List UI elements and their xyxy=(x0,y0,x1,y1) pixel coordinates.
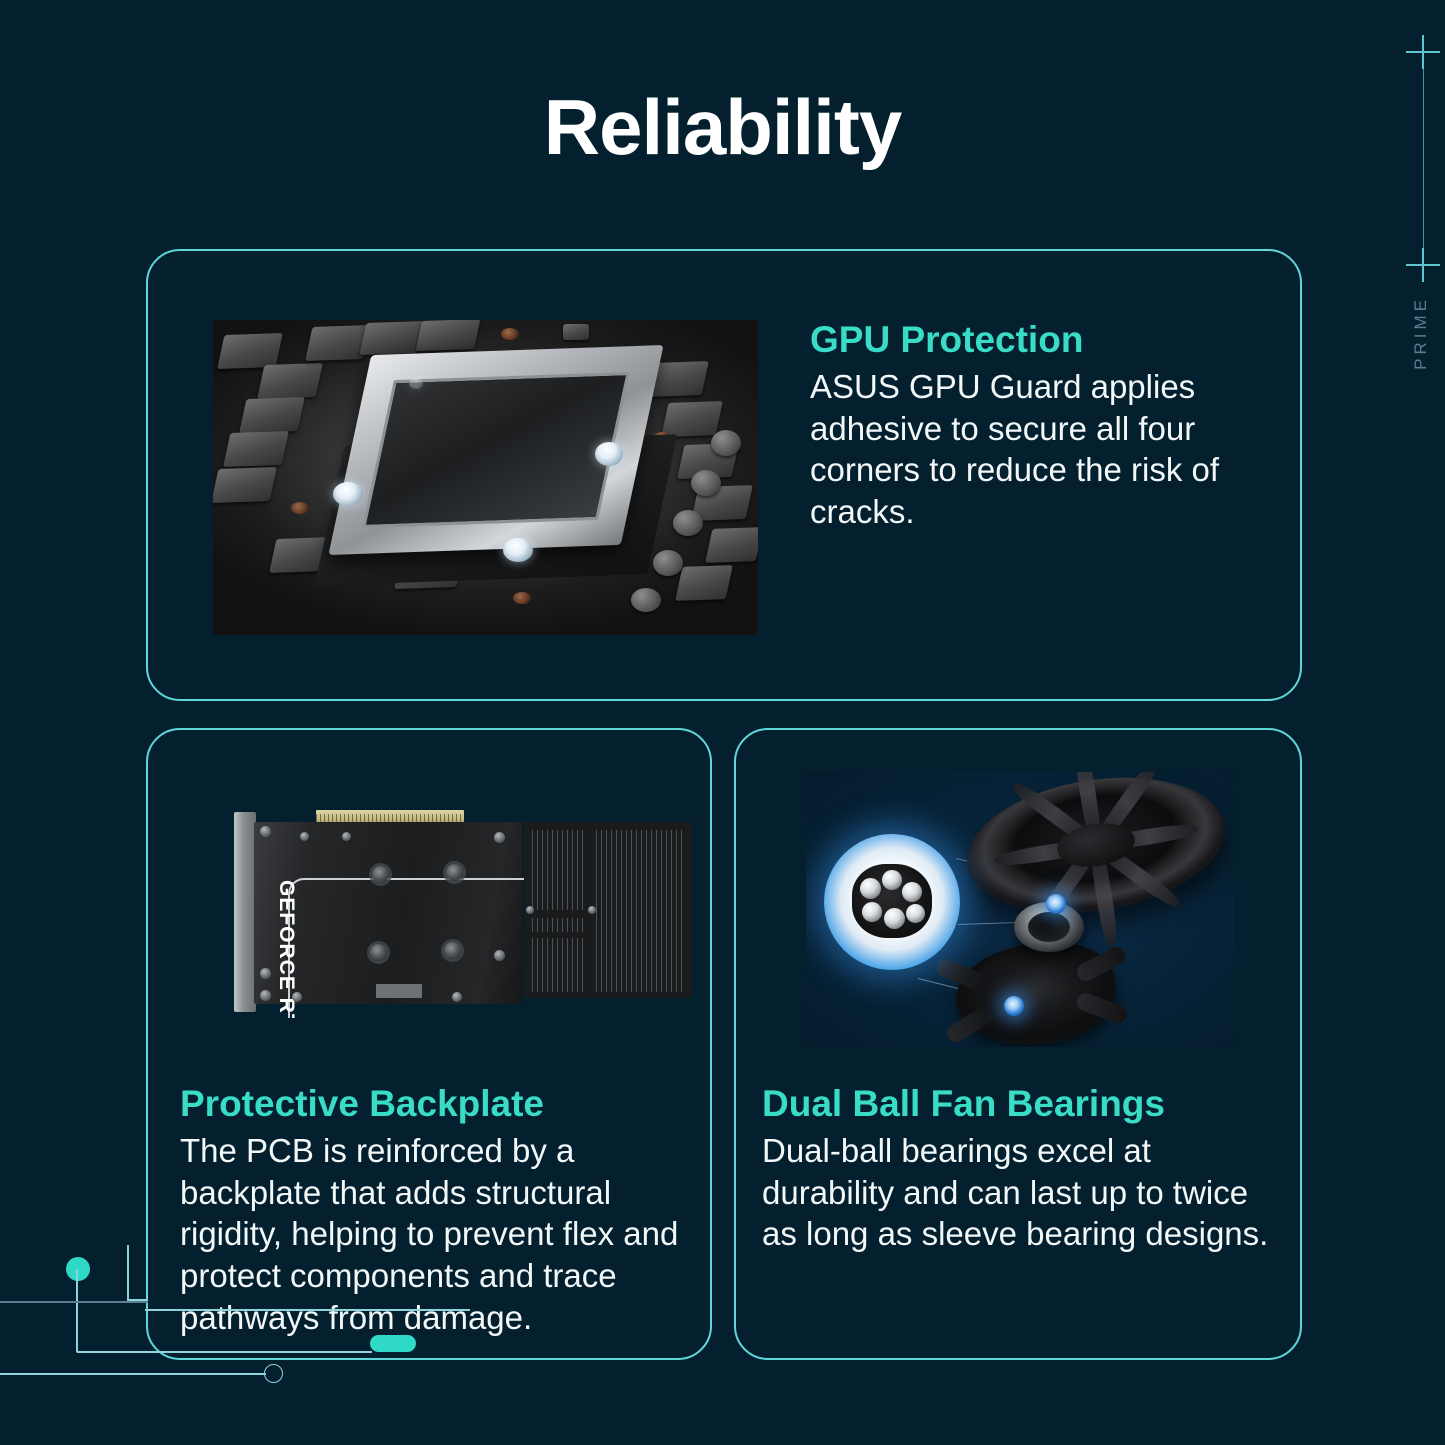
backplate-standoff xyxy=(444,942,461,959)
backplate-vent xyxy=(524,822,692,998)
circuit-node-outline xyxy=(264,1364,283,1383)
circuit-node-filled xyxy=(66,1257,90,1281)
backplate-screw xyxy=(300,832,309,841)
bearing-shaft-top xyxy=(1046,894,1066,914)
io-bracket xyxy=(234,812,256,1012)
page-title: Reliability xyxy=(0,88,1445,166)
bearing-race xyxy=(852,864,932,938)
fan-rotor xyxy=(957,772,1234,930)
backplate-screw xyxy=(260,990,271,1001)
circuit-trace-decoration xyxy=(0,1245,470,1445)
backplate-body: GEFORCE RTX xyxy=(254,822,522,1004)
infographic-page: Reliability xyxy=(0,0,1445,1445)
prime-label: PRIME xyxy=(1411,296,1431,370)
gpu-protection-body: ASUS GPU Guard applies adhesive to secur… xyxy=(810,366,1230,534)
gpu-protection-text: GPU Protection ASUS GPU Guard applies ad… xyxy=(810,318,1230,533)
backplate-screw xyxy=(260,826,271,837)
prime-vertical-line xyxy=(1423,38,1424,268)
backplate-screw xyxy=(342,832,351,841)
adhesive-blob xyxy=(595,442,623,466)
backplate-model-tag xyxy=(376,984,422,998)
bearing-bracket xyxy=(951,936,1121,1047)
backplate-screw xyxy=(494,950,505,961)
backplate-standoff xyxy=(370,944,387,961)
backplate-screw xyxy=(452,992,462,1002)
circuit-node-pill xyxy=(370,1335,416,1352)
adhesive-blob xyxy=(503,538,533,562)
bearing-hub-bore xyxy=(1028,912,1070,942)
plus-marker-icon xyxy=(1406,35,1440,69)
gpu-die-photo xyxy=(213,320,758,635)
prime-watermark: PRIME xyxy=(1385,0,1445,420)
bearings-text: Dual Ball Fan Bearings Dual-ball bearing… xyxy=(762,1082,1284,1255)
bearing-shaft-bottom xyxy=(1004,996,1024,1016)
backplate-standoff xyxy=(446,864,463,881)
backplate-heading: Protective Backplate xyxy=(180,1082,695,1126)
bearings-body: Dual-ball bearings excel at durability a… xyxy=(762,1130,1284,1256)
adhesive-blob xyxy=(333,482,363,506)
backplate-photo: GEFORCE RTX xyxy=(228,778,705,1018)
gpu-protection-heading: GPU Protection xyxy=(810,318,1230,362)
fan-bearing-photo xyxy=(806,772,1234,1047)
backplate-screw xyxy=(494,832,505,843)
backplate-standoff xyxy=(372,866,389,883)
backplate-screw xyxy=(292,992,302,1002)
gpu-die xyxy=(362,372,630,528)
backplate-screw xyxy=(260,968,271,979)
plus-marker-icon xyxy=(1406,248,1440,282)
bearings-heading: Dual Ball Fan Bearings xyxy=(762,1082,1284,1126)
bearing-magnifier-inset xyxy=(824,834,960,970)
adhesive-blob xyxy=(409,378,423,389)
